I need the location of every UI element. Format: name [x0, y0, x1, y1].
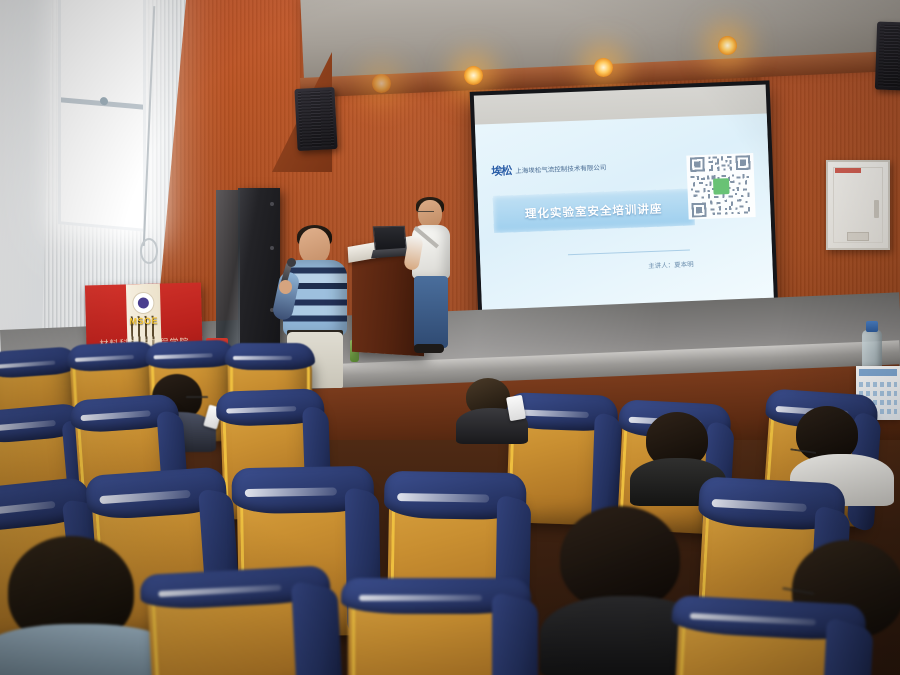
banner-acronym: MSOE [124, 315, 164, 326]
recessed-downlight [464, 66, 483, 85]
audience-head [560, 506, 680, 610]
recessed-downlight [372, 74, 391, 93]
speaker-grille [298, 90, 335, 148]
glasses-icon [417, 211, 434, 216]
daylight-window [58, 0, 146, 232]
rack-bolt [270, 246, 274, 250]
speaker-grille [878, 25, 900, 88]
recessed-downlight [594, 58, 613, 77]
recessed-downlight [718, 36, 737, 55]
shoe [414, 344, 444, 353]
screen-surface: 埃松 上海埃松气流控制技术有限公司 理化实验室安全培训讲座 主讲人：夏本明 [474, 84, 774, 319]
cabinet-handle [874, 200, 879, 218]
company-logo-mark: 埃松 [491, 162, 512, 179]
auditorium-seat[interactable] [348, 590, 524, 675]
card-row [859, 382, 897, 387]
wall-control-cabinet [826, 160, 890, 250]
wall-speaker-right [875, 21, 900, 90]
auditorium-seat[interactable] [147, 577, 329, 675]
wechat-badge [713, 178, 730, 194]
slide-title: 理化实验室安全培训讲座 [525, 200, 663, 221]
seat-side-panel [291, 581, 343, 675]
wall-speaker-left [294, 87, 337, 151]
microphone-head [287, 258, 296, 267]
head [299, 228, 330, 264]
bottle-cap [866, 321, 878, 332]
slide-title-bar: 理化实验室安全培训讲座 [492, 189, 695, 234]
seat-highlight [233, 356, 292, 361]
equipment-rack [238, 188, 280, 366]
hand [279, 280, 292, 294]
slide-company-logo: 埃松 上海埃松气流控制技术有限公司 [491, 159, 607, 179]
seat-highlight [245, 488, 338, 497]
card-header [859, 369, 897, 376]
glasses-icon [186, 396, 208, 401]
cabinet-nameplate [847, 232, 869, 241]
rack-bolt [270, 202, 274, 206]
qr-code [687, 153, 757, 220]
cabinet-warning-label [835, 168, 861, 173]
auditorium-seat[interactable] [673, 607, 859, 675]
presentation-slide: 埃松 上海埃松气流控制技术有限公司 理化实验室安全培训讲座 主讲人：夏本明 [475, 114, 774, 320]
slide-divider [568, 249, 691, 255]
lecture-hall-photo: 埃松 上海埃松气流控制技术有限公司 理化实验室安全培训讲座 主讲人：夏本明 [0, 0, 900, 675]
jeans [414, 276, 448, 348]
projection-screen: 埃松 上海埃松气流控制技术有限公司 理化实验室安全培训讲座 主讲人：夏本明 [470, 80, 779, 323]
seat-highlight [397, 493, 490, 502]
qr-pattern [689, 155, 754, 218]
seat-side-panel [492, 592, 538, 675]
seat-highlight [359, 595, 482, 601]
slide-presenter-line: 主讲人：夏本明 [648, 259, 694, 271]
company-name: 上海埃松气流控制技术有限公司 [515, 162, 606, 175]
blind-cord-loop [140, 238, 158, 264]
operator-at-podium [408, 198, 456, 356]
